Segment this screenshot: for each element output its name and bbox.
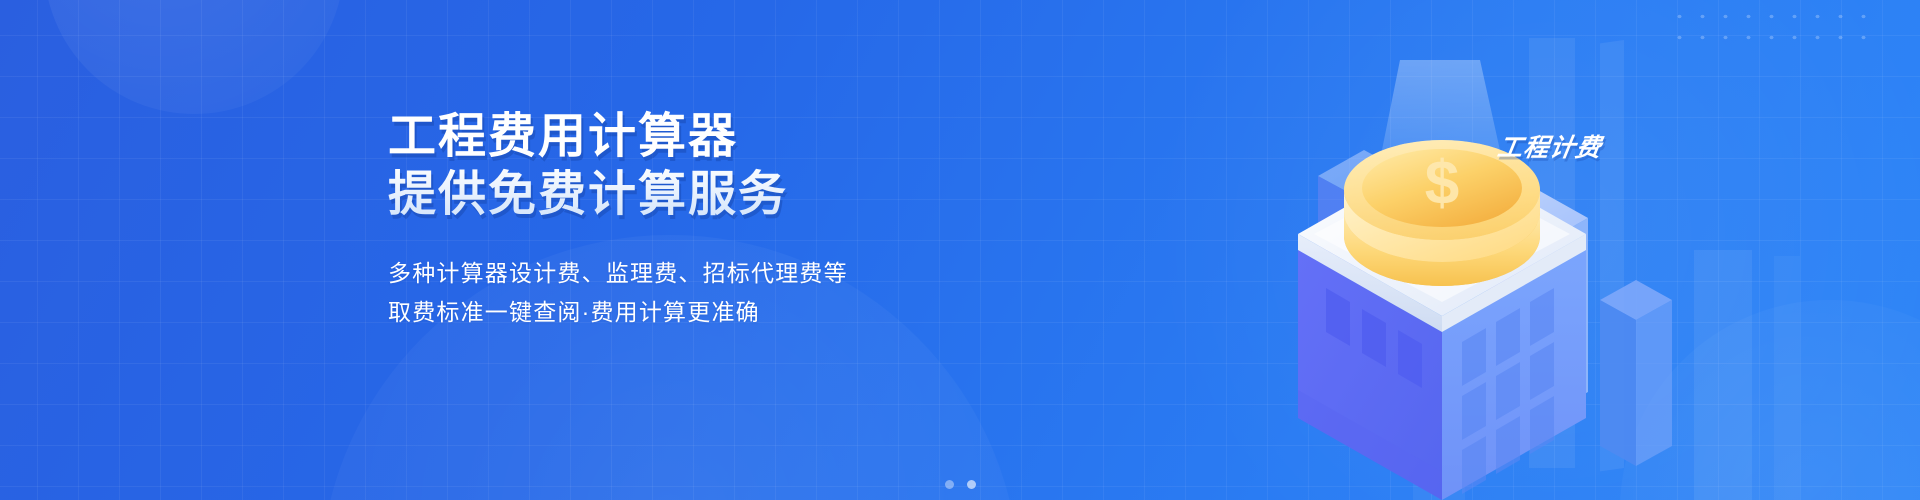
description-line-2: 取费标准一键查阅·费用计算更准确 [388, 293, 1028, 332]
headline-line-1: 工程费用计算器 [388, 108, 1028, 166]
banner-illustration: $ 工程计费 [1160, 0, 1920, 500]
carousel-dot-2[interactable] [967, 480, 976, 489]
banner-description: 多种计算器设计费、监理费、招标代理费等 取费标准一键查阅·费用计算更准确 [388, 254, 1028, 332]
iso-pillar-front-right [1600, 280, 1672, 466]
page-title: 工程费用计算器 提供免费计算服务 [388, 108, 1028, 224]
headline-line-2: 提供免费计算服务 [388, 166, 1028, 224]
carousel-dot-1[interactable] [945, 480, 954, 489]
illustration-badge: 工程计费 [1495, 128, 1605, 164]
carousel-indicators[interactable] [0, 480, 1920, 489]
dollar-sign-icon: $ [1425, 149, 1459, 218]
isometric-building-coin-illustration: $ [1150, 0, 1790, 500]
hero-banner: 工程费用计算器 提供免费计算服务 多种计算器设计费、监理费、招标代理费等 取费标… [0, 0, 1920, 500]
banner-copy: 工程费用计算器 提供免费计算服务 多种计算器设计费、监理费、招标代理费等 取费标… [388, 108, 1028, 332]
description-line-1: 多种计算器设计费、监理费、招标代理费等 [388, 254, 1028, 293]
